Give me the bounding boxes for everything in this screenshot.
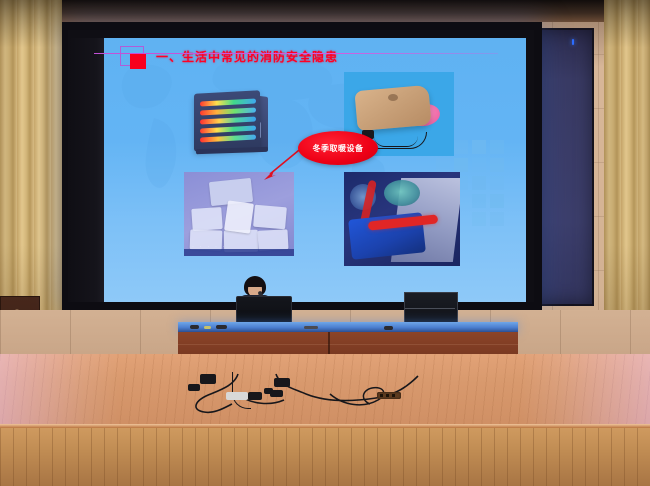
screen-top-bezel <box>68 30 534 38</box>
white-cable-bundle <box>226 392 248 400</box>
slide-image-electric-blankets: · · · · · <box>184 172 294 256</box>
slide-title: 一、生活中常见的消防安全隐患 <box>156 48 338 65</box>
desk-item-small <box>204 326 211 329</box>
indicator-led <box>572 39 574 45</box>
power-adapter <box>248 392 262 400</box>
bedding-object-center <box>384 180 420 206</box>
curtain-left <box>0 0 62 340</box>
screen-left-bezel <box>68 30 104 302</box>
heater-heating-bars <box>200 97 256 146</box>
stage-light-glow-right <box>520 354 650 426</box>
desk-item-remote <box>190 325 199 329</box>
desk-item-strip <box>304 326 318 329</box>
desk-surface <box>178 322 518 332</box>
bullet-red-square-icon <box>130 53 146 69</box>
screen-right-bezel <box>526 30 534 302</box>
curtain-left-shading <box>0 0 62 340</box>
monitor-reflection-line <box>405 308 455 309</box>
led-screen: 一、生活中常见的消防安全隐患 <box>68 30 534 302</box>
power-adapter <box>188 384 200 391</box>
ceiling-band <box>0 0 650 22</box>
power-adapter <box>200 374 216 384</box>
slide-image-bedding-hazard <box>344 172 460 266</box>
slide-image-electric-heater <box>180 82 280 162</box>
slide-callout-bubble: 冬季取暖设备 <box>298 131 378 165</box>
heater-base <box>196 147 268 155</box>
auditorium-photo: 一、生活中常见的消防安全隐患 <box>0 0 650 486</box>
desk-item-device <box>216 325 227 329</box>
curtain-right <box>604 0 650 340</box>
slide-callout-text: 冬季取暖设备 <box>313 143 364 154</box>
slide-title-rule <box>94 53 498 54</box>
power-adapter <box>270 390 283 397</box>
desk-monitor <box>404 292 458 326</box>
desk-trim-line <box>178 344 518 345</box>
presenter-fringe <box>246 279 264 287</box>
stage-front-panel <box>0 428 650 486</box>
curtain-right-shading <box>604 0 650 340</box>
desk-item-box <box>384 326 393 330</box>
slide-title-row: 一、生活中常见的消防安全隐患 <box>120 46 510 72</box>
power-adapter <box>274 378 290 387</box>
power-strip <box>377 392 401 399</box>
heating-pad-body <box>354 85 431 131</box>
acoustic-panel-right <box>537 28 594 306</box>
heating-pad-marking <box>388 94 398 101</box>
heating-pad-cord-loop <box>374 136 418 147</box>
photo-bottom-strip <box>184 249 294 256</box>
stage-light-glow-left <box>0 354 120 426</box>
